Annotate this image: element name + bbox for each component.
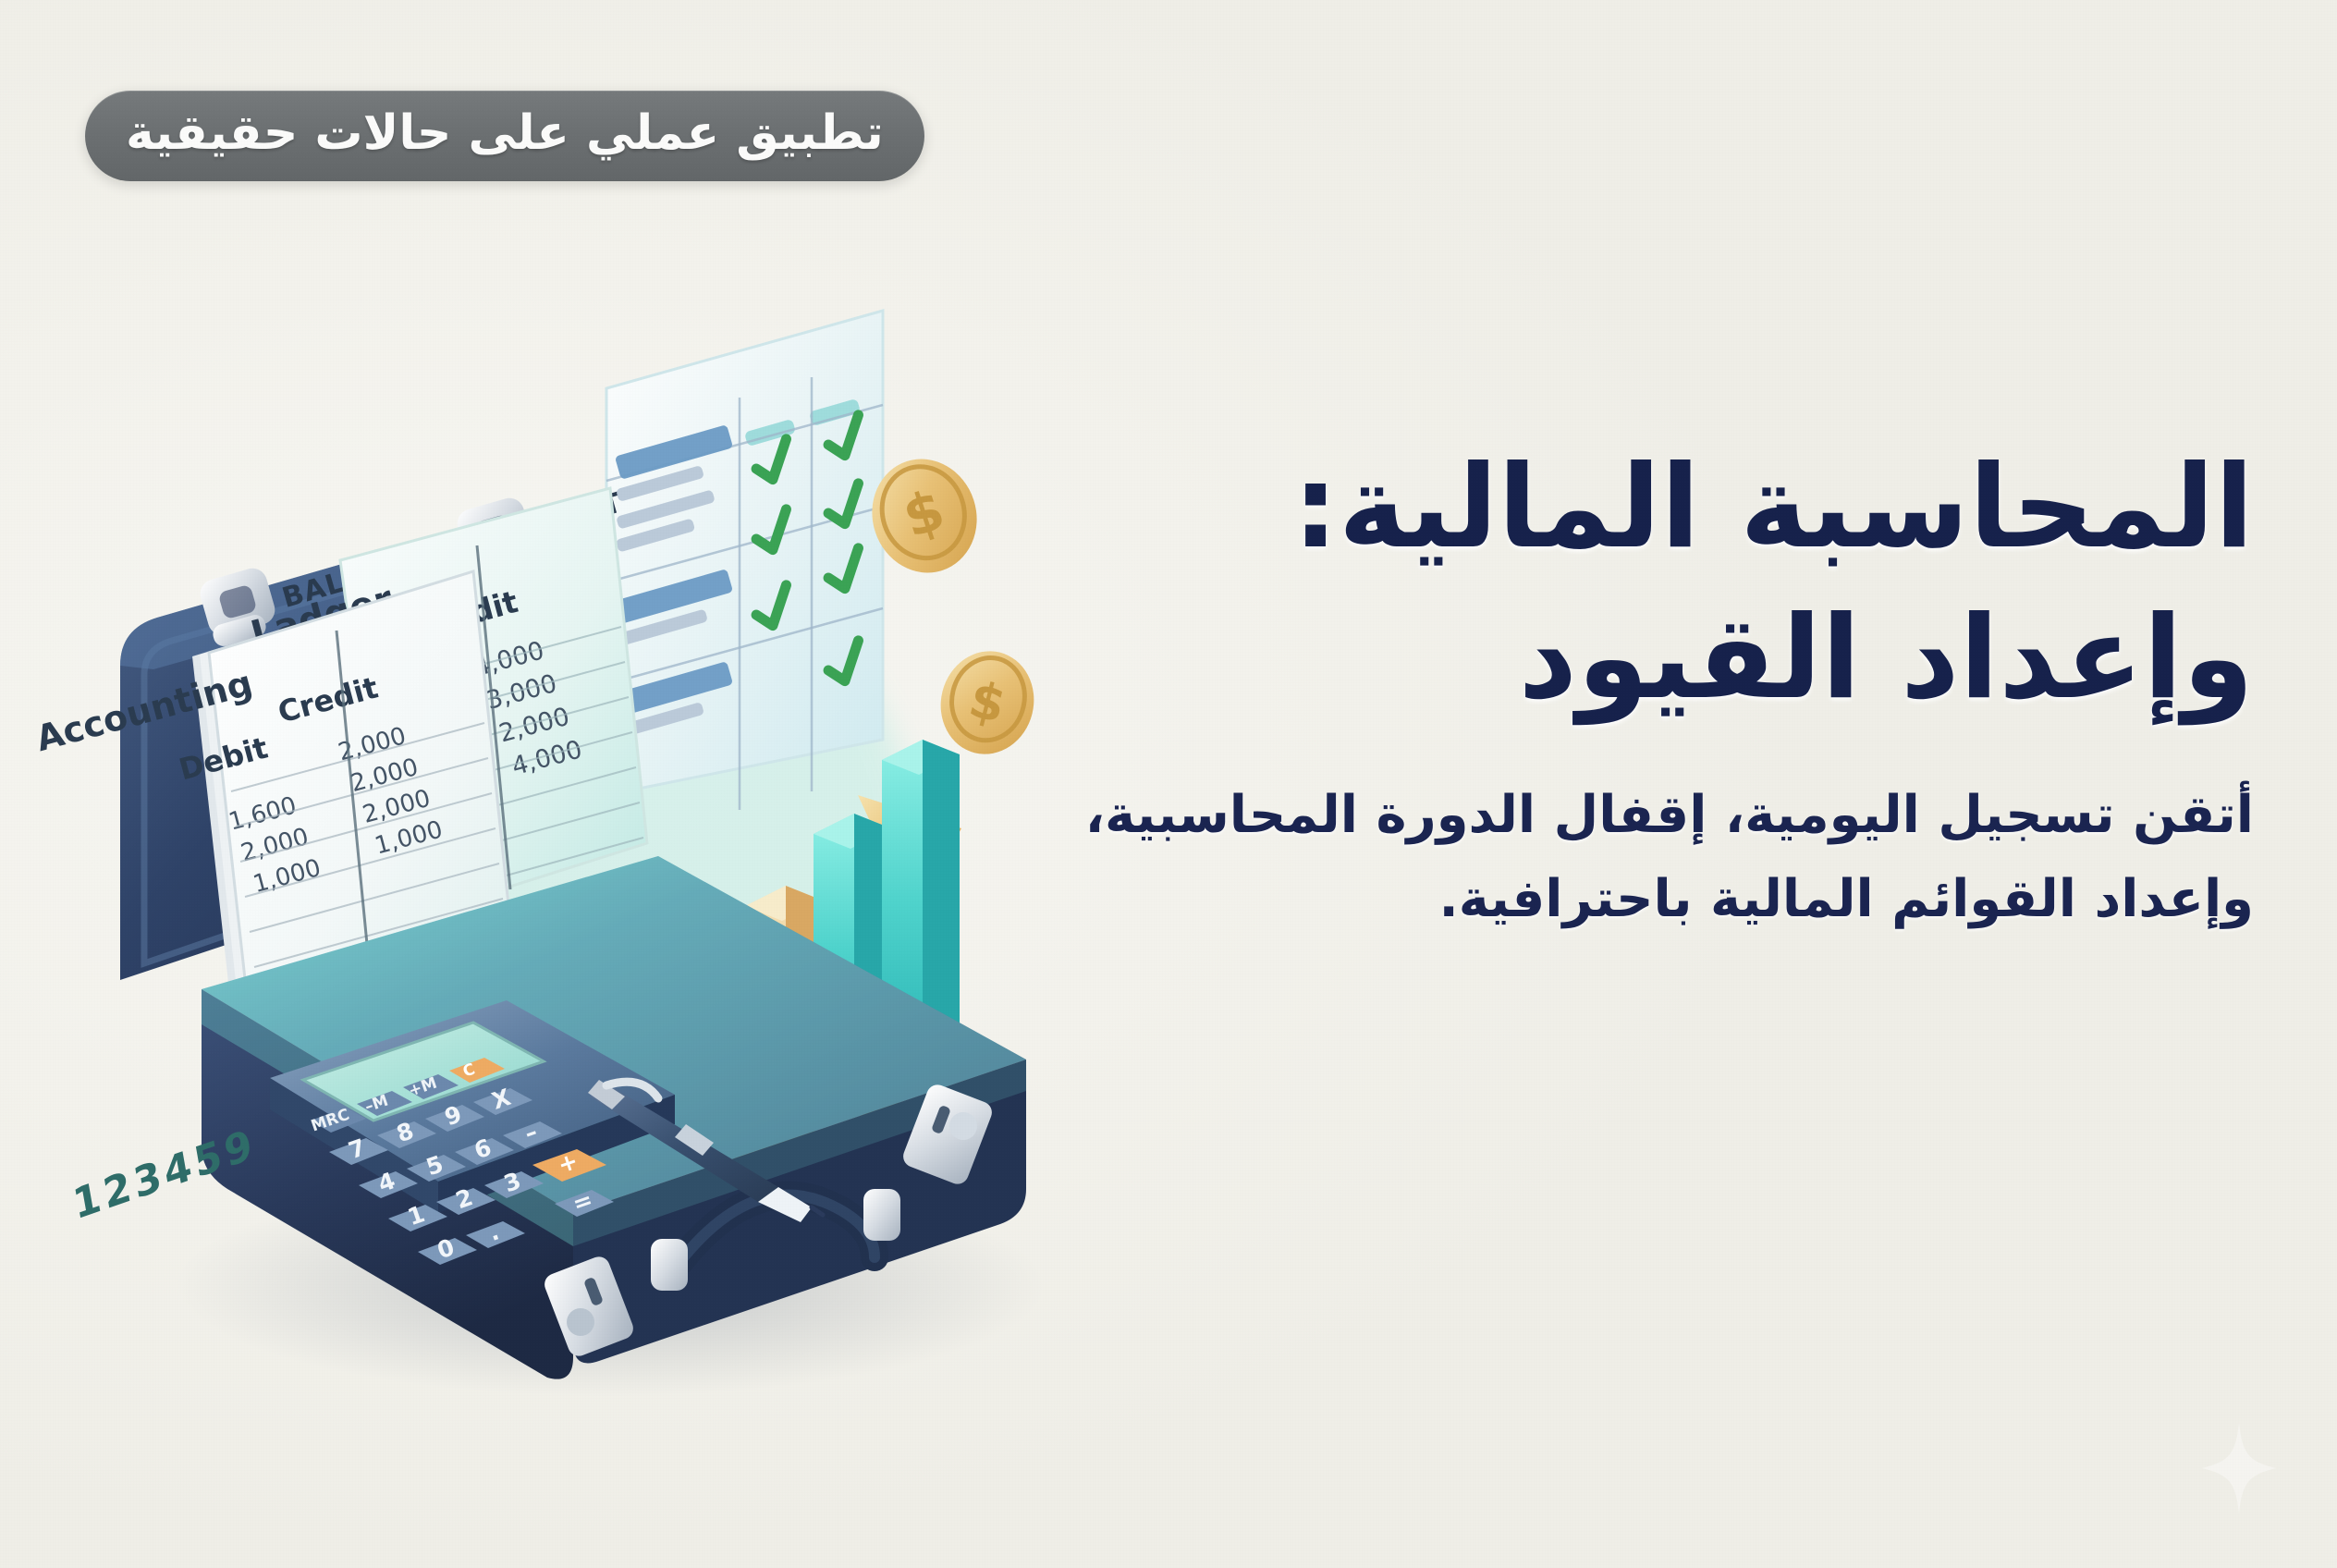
subheadline-line-2: وإعداد القوائم المالية باحترافية. [997, 858, 2254, 942]
promo-badge: تطبيق عملي على حالات حقيقية [85, 91, 924, 181]
calculator-display-value: 123459 [69, 1121, 259, 1230]
headline-line-1: المحاسبة المالية: [997, 435, 2254, 582]
subheadline-line-1: أتقن تسجيل اليومية، إقفال الدورة المحاسب… [997, 774, 2254, 858]
promo-badge-label: تطبيق عملي على حالات حقيقية [126, 109, 884, 157]
headline-block: المحاسبة المالية: وإعداد القيود أتقن تسج… [997, 435, 2254, 942]
subheadline: أتقن تسجيل اليومية، إقفال الدورة المحاسب… [997, 774, 2254, 941]
headline-line-2: وإعداد القيود [997, 585, 2254, 732]
poster-canvas: تطبيق عملي على حالات حقيقية [0, 0, 2337, 1568]
sparkle-star-icon [2198, 1418, 2280, 1518]
